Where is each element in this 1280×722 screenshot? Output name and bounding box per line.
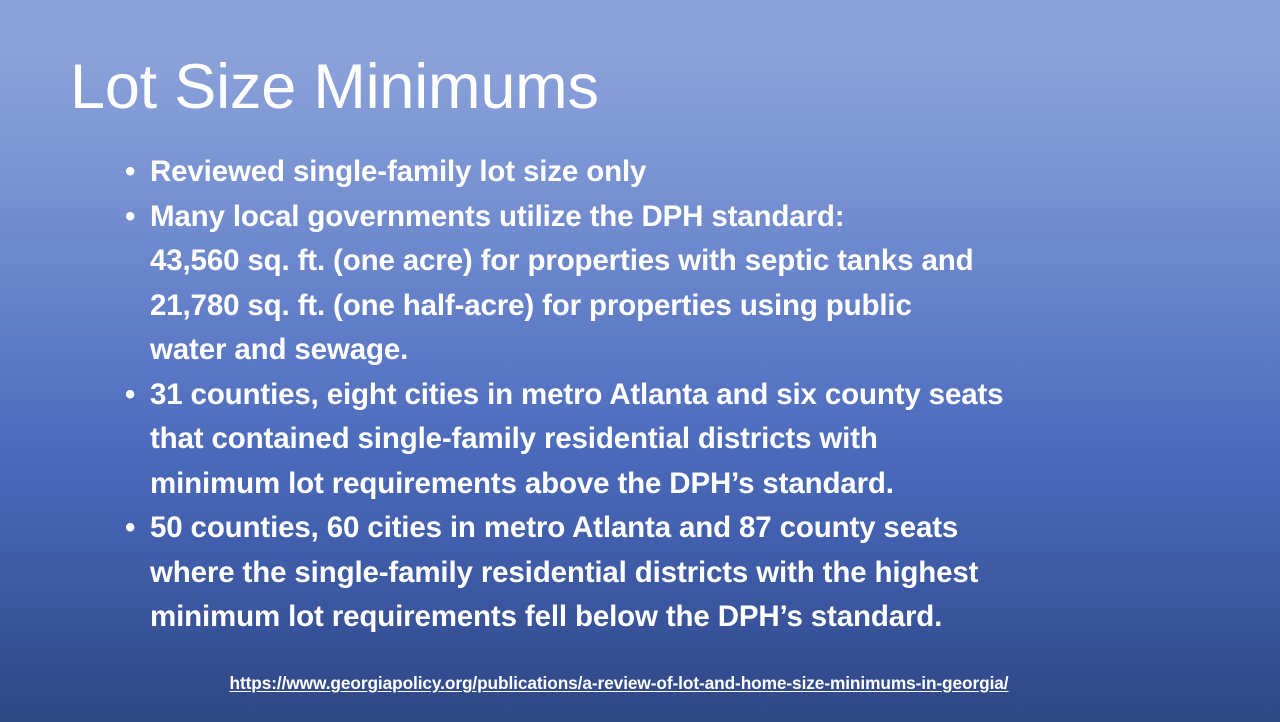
source-url-text[interactable]: https://www.georgiapolicy.org/publicatio…	[230, 672, 1009, 694]
list-item: • Many local governments utilize the DPH…	[118, 195, 1258, 373]
bullet-line: 31 counties, eight cities in metro Atlan…	[150, 373, 1258, 418]
bullet-line: water and sewage.	[150, 328, 1258, 373]
bullet-line: 43,560 sq. ft. (one acre) for properties…	[150, 239, 1258, 284]
list-item: • Reviewed single-family lot size only	[118, 150, 1258, 195]
bullet-line: Reviewed single-family lot size only	[150, 150, 1258, 195]
bullet-dot-icon: •	[125, 150, 135, 195]
bullet-line: 21,780 sq. ft. (one half-acre) for prope…	[150, 284, 1258, 329]
bullet-dot-icon: •	[125, 506, 135, 551]
bullet-line: where the single-family residential dist…	[150, 551, 1258, 596]
bullet-line: that contained single-family residential…	[150, 417, 1258, 462]
bullet-line: minimum lot requirements fell below the …	[150, 595, 1258, 640]
bullet-line: minimum lot requirements above the DPH’s…	[150, 462, 1258, 507]
source-url-link[interactable]: https://www.georgiapolicy.org/publicatio…	[0, 672, 1280, 694]
page-title: Lot Size Minimums	[70, 52, 1220, 123]
list-item: • 50 counties, 60 cities in metro Atlant…	[118, 506, 1258, 640]
bullet-dot-icon: •	[125, 195, 135, 240]
bullet-list: • Reviewed single-family lot size only •…	[118, 150, 1258, 640]
slide-canvas: Lot Size Minimums • Reviewed single-fami…	[0, 0, 1280, 722]
list-item: • 31 counties, eight cities in metro Atl…	[118, 373, 1258, 507]
bullet-line: 50 counties, 60 cities in metro Atlanta …	[150, 506, 1258, 551]
bullet-dot-icon: •	[125, 373, 135, 418]
bullet-line: Many local governments utilize the DPH s…	[150, 195, 1258, 240]
